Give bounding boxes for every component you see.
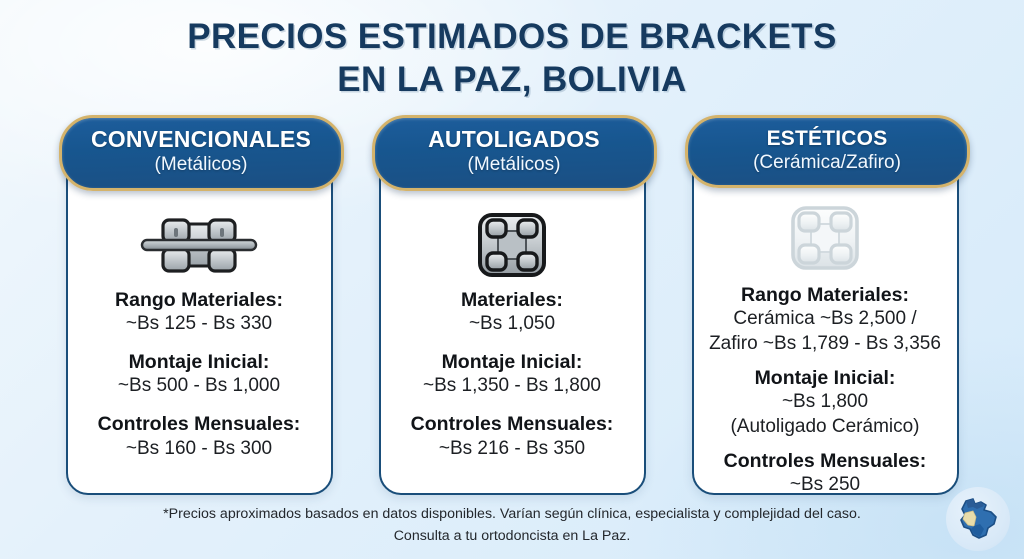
card-body-autoligados: Materiales: ~Bs 1,050 Montaje Inicial: ~… (381, 284, 644, 493)
price-card-esteticos: ESTÉTICOS (Cerámica/Zafiro) (692, 128, 959, 495)
price-cards-row: CONVENCIONALES (Metálicos) (0, 128, 1024, 498)
price-value: ~Bs 500 - Bs 1,000 (78, 374, 321, 399)
price-value: ~Bs 1,350 - Bs 1,800 (391, 374, 634, 399)
price-group: Rango Materiales: Cerámica ~Bs 2,500 / Z… (704, 283, 947, 357)
price-value: ~Bs 216 - Bs 350 (391, 437, 634, 462)
price-card-autoligados: AUTOLIGADOS (Metálicos) (379, 128, 646, 495)
price-group: Controles Mensuales: ~Bs 216 - Bs 350 (391, 412, 634, 461)
price-group: Montaje Inicial: ~Bs 500 - Bs 1,000 (78, 350, 321, 399)
price-value: ~Bs 250 (704, 473, 947, 498)
price-label: Controles Mensuales: (78, 412, 321, 436)
bolivia-map-icon (953, 495, 1003, 543)
price-value: ~Bs 160 - Bs 300 (78, 437, 321, 462)
title-line-2: EN LA PAZ, BOLIVIA (0, 59, 1024, 102)
card-title-convencionales: CONVENCIONALES (70, 127, 333, 153)
price-value: ~Bs 1,800 (704, 390, 947, 415)
footnote-line-2: Consulta a tu ortodoncista en La Paz. (90, 526, 934, 547)
price-label: Rango Materiales: (704, 283, 947, 307)
ceramic-bracket-icon (787, 202, 863, 274)
card-subtitle-autoligados: (Metálicos) (383, 154, 646, 177)
price-value-second-line: Zafiro ~Bs 1,789 - Bs 3,356 (704, 332, 947, 357)
price-value: Cerámica ~Bs 2,500 / (704, 307, 947, 332)
price-value: ~Bs 125 - Bs 330 (78, 312, 321, 337)
self-ligating-bracket-icon (474, 206, 550, 284)
price-label: Montaje Inicial: (78, 350, 321, 374)
price-group: Montaje Inicial: ~Bs 1,800 (Autoligado C… (704, 366, 947, 440)
price-group: Rango Materiales: ~Bs 125 - Bs 330 (78, 288, 321, 337)
card-header-autoligados: AUTOLIGADOS (Metálicos) (372, 115, 657, 191)
card-body-esteticos: Rango Materiales: Cerámica ~Bs 2,500 / Z… (694, 274, 957, 498)
footnote: *Precios aproximados basados en datos di… (0, 504, 1024, 547)
card-subtitle-esteticos: (Cerámica/Zafiro) (696, 152, 959, 175)
price-group: Montaje Inicial: ~Bs 1,350 - Bs 1,800 (391, 350, 634, 399)
card-title-autoligados: AUTOLIGADOS (383, 127, 646, 153)
price-label: Montaje Inicial: (704, 366, 947, 390)
card-title-esteticos: ESTÉTICOS (696, 127, 959, 151)
price-value: ~Bs 1,050 (391, 312, 634, 337)
price-value-second-line: (Autoligado Cerámico) (704, 415, 947, 440)
card-subtitle-convencionales: (Metálicos) (70, 154, 333, 177)
metal-bracket-icon (140, 206, 258, 284)
price-label: Rango Materiales: (78, 288, 321, 312)
price-label: Controles Mensuales: (391, 412, 634, 436)
card-header-esteticos: ESTÉTICOS (Cerámica/Zafiro) (685, 115, 970, 188)
title-line-1: PRECIOS ESTIMADOS DE BRACKETS (0, 16, 1024, 59)
price-label: Materiales: (391, 288, 634, 312)
page-title: PRECIOS ESTIMADOS DE BRACKETS EN LA PAZ,… (0, 16, 1024, 101)
price-card-convencionales: CONVENCIONALES (Metálicos) (66, 128, 333, 495)
footnote-line-1: *Precios aproximados basados en datos di… (90, 504, 934, 525)
price-label: Controles Mensuales: (704, 449, 947, 473)
card-body-convencionales: Rango Materiales: ~Bs 125 - Bs 330 Monta… (68, 284, 331, 493)
price-group: Controles Mensuales: ~Bs 250 (704, 449, 947, 498)
price-group: Controles Mensuales: ~Bs 160 - Bs 300 (78, 412, 321, 461)
price-group: Materiales: ~Bs 1,050 (391, 288, 634, 337)
bolivia-map-badge (946, 487, 1010, 551)
price-label: Montaje Inicial: (391, 350, 634, 374)
card-header-convencionales: CONVENCIONALES (Metálicos) (59, 115, 344, 191)
